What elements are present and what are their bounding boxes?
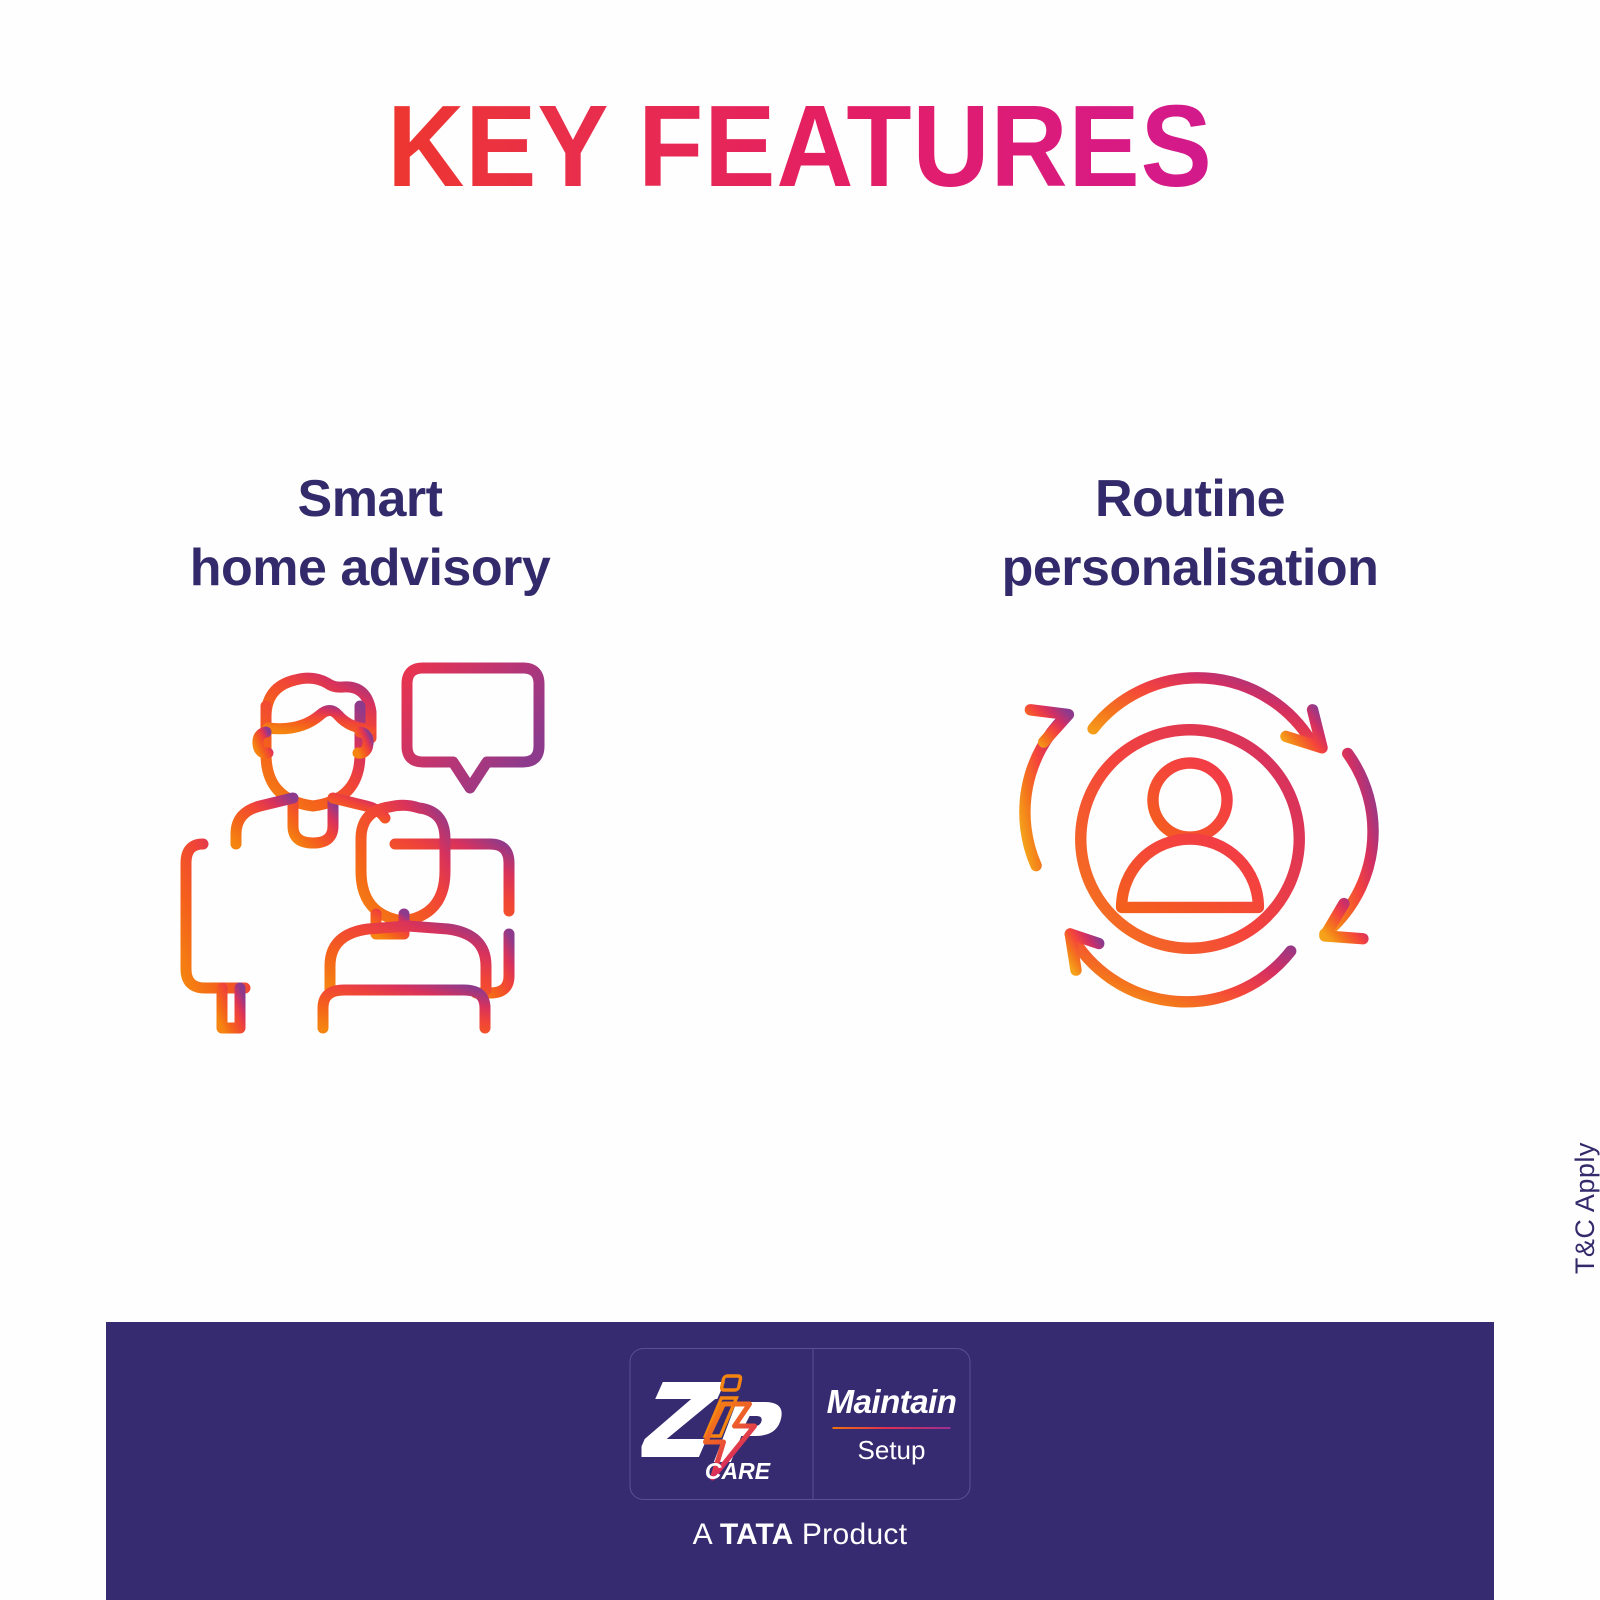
- feature-title-routine-personalisation: Routine personalisation: [870, 465, 1510, 602]
- person-avatar-icon: [1122, 763, 1259, 907]
- feature-card-routine-personalisation: Routine personalisation: [870, 465, 1510, 1034]
- brand-lockup: CARE Maintain Setup: [630, 1348, 971, 1500]
- tata-suffix: Product: [793, 1518, 907, 1551]
- tata-brand: TATA: [720, 1518, 793, 1551]
- page-title: KEY FEATURES: [64, 86, 1536, 208]
- speech-bubble-icon: [407, 668, 539, 788]
- footer-brand-bar: CARE Maintain Setup A TATA Product: [106, 1322, 1494, 1600]
- feature-title-smart-home-advisory: Smart home advisory: [50, 465, 690, 602]
- care-wordmark: CARE: [705, 1458, 771, 1484]
- terms-and-conditions-note: T&C Apply: [1570, 1142, 1600, 1274]
- feature-illustration-smart-home-advisory: [50, 644, 690, 1034]
- service-primary-label: Maintain: [827, 1385, 957, 1418]
- people-on-sofa-with-speech-bubble-icon: [180, 644, 560, 1034]
- person-in-cycle-arrows-icon: [1000, 644, 1380, 1034]
- service-divider-rule: [833, 1427, 951, 1430]
- zipcare-wordmark-icon: CARE: [642, 1360, 802, 1488]
- letter-i-dot: [721, 1376, 741, 1390]
- zipcare-logo: CARE: [631, 1349, 814, 1499]
- service-badge: Maintain Setup: [814, 1349, 970, 1499]
- tata-prefix: A: [693, 1518, 720, 1551]
- tata-product-line: A TATA Product: [693, 1518, 908, 1552]
- service-secondary-label: Setup: [858, 1437, 926, 1463]
- poster-canvas: KEY FEATURES Smart home advisory: [0, 0, 1600, 1600]
- feature-card-smart-home-advisory: Smart home advisory: [50, 465, 690, 1034]
- feature-illustration-routine-personalisation: [870, 644, 1510, 1034]
